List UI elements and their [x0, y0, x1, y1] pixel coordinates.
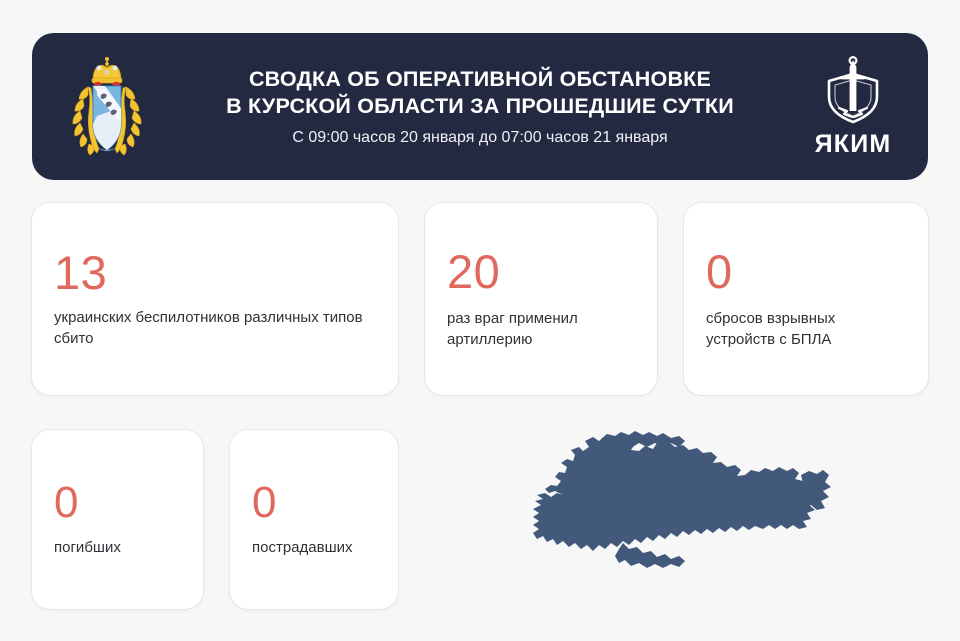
stat-card-drones-downed: 13 украинских беспилотников различных ти…	[32, 203, 398, 395]
stat-label: погибших	[54, 537, 181, 558]
stat-value: 13	[54, 249, 376, 296]
page-title: СВОДКА ОБ ОПЕРАТИВНОЙ ОБСТАНОВКЕ В КУРСК…	[186, 66, 774, 121]
page-title-line-2: В КУРСКОЙ ОБЛАСТИ ЗА ПРОШЕДШИЕ СУТКИ	[186, 93, 774, 121]
stat-value: 20	[447, 248, 635, 295]
stat-card-killed: 0 погибших	[32, 430, 203, 609]
report-period-subtitle: С 09:00 часов 20 января до 07:00 часов 2…	[186, 128, 774, 147]
kursk-coat-of-arms-icon	[32, 55, 182, 159]
header-banner: СВОДКА ОБ ОПЕРАТИВНОЙ ОБСТАНОВКЕ В КУРСК…	[32, 33, 928, 180]
yakim-wordmark: ЯКИМ	[815, 132, 892, 157]
stat-card-injured: 0 пострадавших	[230, 430, 398, 609]
stat-label: сбросов взрывных устройств с БПЛА	[706, 308, 906, 351]
kursk-region-map	[505, 425, 845, 585]
infographic-page: СВОДКА ОБ ОПЕРАТИВНОЙ ОБСТАНОВКЕ В КУРСК…	[0, 0, 960, 641]
stat-card-artillery-strikes: 20 раз враг применил артиллерию	[425, 203, 657, 395]
stat-label: пострадавших	[252, 537, 376, 558]
kursk-region-silhouette-icon	[505, 425, 845, 585]
stat-card-explosive-drops: 0 сбросов взрывных устройств с БПЛА	[684, 203, 928, 395]
shield-sword-icon	[819, 56, 887, 130]
stat-value: 0	[706, 248, 906, 295]
page-title-line-1: СВОДКА ОБ ОПЕРАТИВНОЙ ОБСТАНОВКЕ	[249, 67, 711, 91]
header-text-block: СВОДКА ОБ ОПЕРАТИВНОЙ ОБСТАНОВКЕ В КУРСК…	[182, 66, 778, 147]
stat-label: раз враг применил артиллерию	[447, 308, 635, 351]
yakim-logo: ЯКИМ	[778, 56, 928, 157]
stat-label: украинских беспилотников различных типов…	[54, 307, 376, 350]
stat-value: 0	[54, 481, 181, 525]
stat-value: 0	[252, 481, 376, 525]
